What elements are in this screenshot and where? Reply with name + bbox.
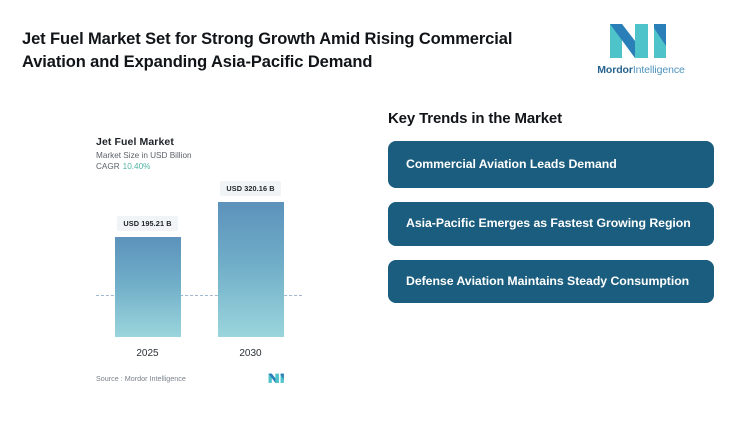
x-axis-tick: 2025 [109, 348, 187, 359]
key-trends-panel: Key Trends in the Market Commercial Avia… [388, 110, 714, 303]
brand-logo: MordorIntelligence [590, 22, 692, 76]
chart-source: Source : Mordor Intelligence [96, 373, 286, 383]
chart-subtitle: Market Size in USD Billion [96, 151, 302, 160]
trend-card-2[interactable]: Asia-Pacific Emerges as Fastest Growing … [388, 202, 714, 245]
bar-2030 [218, 202, 284, 337]
brand-name-bold: Mordor [597, 64, 633, 76]
bar-column-2030: USD 320.16 B [212, 181, 290, 337]
source-text: Source : Mordor Intelligence [96, 374, 186, 383]
bar-value-label: USD 320.16 B [220, 181, 280, 196]
x-axis-tick: 2030 [212, 348, 290, 359]
bar-value-label: USD 195.21 B [117, 216, 177, 231]
market-size-chart: Jet Fuel Market Market Size in USD Billi… [96, 136, 302, 394]
mordor-intelligence-logo-icon [608, 22, 674, 58]
page-header: Jet Fuel Market Set for Strong Growth Am… [0, 0, 750, 96]
chart-plot-area: USD 195.21 B USD 320.16 B 2025 2030 [96, 181, 302, 359]
brand-wordmark: MordorIntelligence [597, 64, 684, 76]
trend-card-1[interactable]: Commercial Aviation Leads Demand [388, 141, 714, 188]
chart-title: Jet Fuel Market [96, 136, 302, 148]
cagr-value: 10.40% [123, 162, 151, 171]
key-trends-heading: Key Trends in the Market [388, 110, 714, 127]
trend-card-3[interactable]: Defense Aviation Maintains Steady Consum… [388, 260, 714, 303]
bar-2025 [115, 237, 181, 337]
chart-cagr: CAGR10.40% [96, 162, 302, 171]
bar-column-2025: USD 195.21 B [109, 181, 187, 337]
brand-name-light: Intelligence [633, 64, 685, 76]
page-title: Jet Fuel Market Set for Strong Growth Am… [22, 28, 552, 75]
cagr-label: CAGR [96, 162, 120, 171]
mordor-intelligence-mark-icon [268, 373, 286, 383]
x-axis-labels: 2025 2030 [96, 348, 302, 359]
bar-series: USD 195.21 B USD 320.16 B [96, 181, 302, 337]
